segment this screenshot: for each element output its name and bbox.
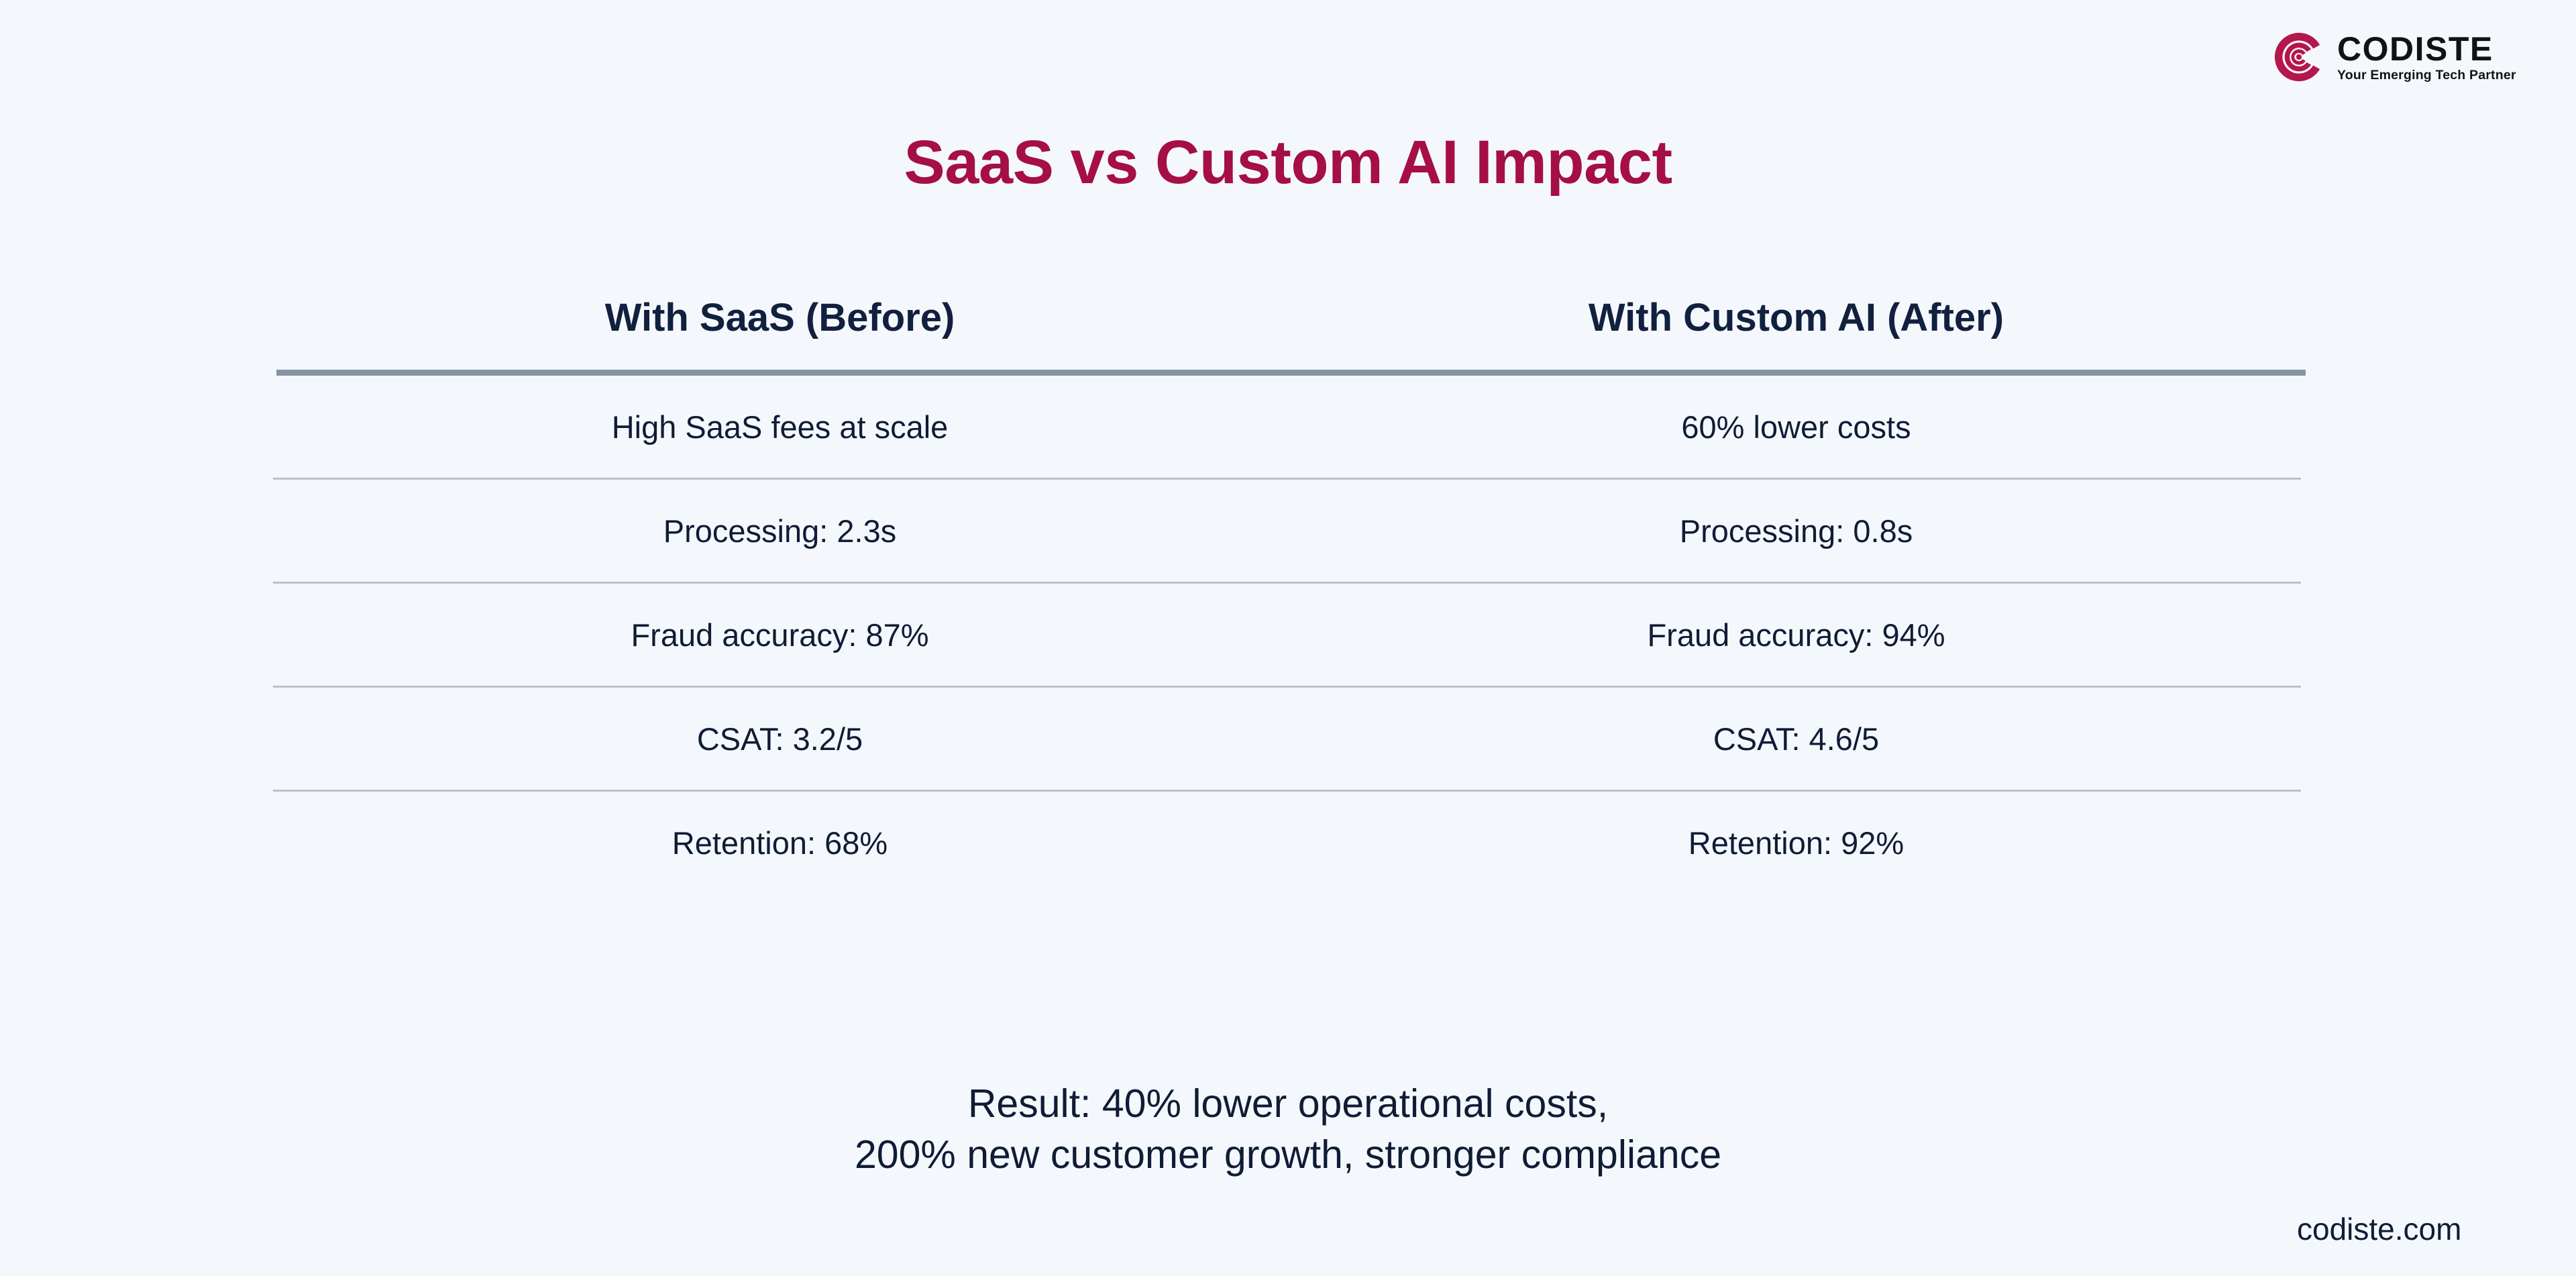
result-line-1: Result: 40% lower operational costs,	[0, 1079, 2576, 1130]
table-row: Processing: 2.3s Processing: 0.8s	[272, 480, 2304, 582]
cell-before: Retention: 68%	[272, 792, 1288, 894]
brand-wordmark: CODISTE Your Emerging Tech Partner	[2337, 32, 2516, 83]
cell-after: Processing: 0.8s	[1288, 480, 2304, 582]
result-line-2: 200% new customer growth, stronger compl…	[0, 1130, 2576, 1181]
brand-name: CODISTE	[2337, 32, 2516, 66]
brand-tagline: Your Emerging Tech Partner	[2337, 69, 2516, 83]
column-header-before: With SaaS (Before)	[272, 295, 1288, 370]
header-divider	[276, 370, 2306, 376]
column-header-after: With Custom AI (After)	[1288, 295, 2304, 370]
table-row: CSAT: 3.2/5 CSAT: 4.6/5	[272, 688, 2304, 790]
comparison-table: With SaaS (Before) With Custom AI (After…	[272, 295, 2304, 894]
table-row: High SaaS fees at scale 60% lower costs	[272, 376, 2304, 478]
result-summary: Result: 40% lower operational costs, 200…	[0, 1079, 2576, 1180]
table-header-row: With SaaS (Before) With Custom AI (After…	[272, 295, 2304, 370]
page-title: SaaS vs Custom AI Impact	[0, 127, 2576, 198]
table-row: Retention: 68% Retention: 92%	[272, 792, 2304, 894]
cell-after: CSAT: 4.6/5	[1288, 688, 2304, 790]
cell-after: Retention: 92%	[1288, 792, 2304, 894]
cell-before: Fraud accuracy: 87%	[272, 584, 1288, 686]
cell-before: CSAT: 3.2/5	[272, 688, 1288, 790]
table-row: Fraud accuracy: 87% Fraud accuracy: 94%	[272, 584, 2304, 686]
cell-before: Processing: 2.3s	[272, 480, 1288, 582]
cell-before: High SaaS fees at scale	[272, 376, 1288, 478]
brand-logo[interactable]: CODISTE Your Emerging Tech Partner	[2271, 30, 2516, 85]
cell-after: Fraud accuracy: 94%	[1288, 584, 2304, 686]
codiste-circular-c-logo-icon	[2271, 30, 2326, 85]
cell-after: 60% lower costs	[1288, 376, 2304, 478]
footer-website[interactable]: codiste.com	[2297, 1211, 2461, 1247]
